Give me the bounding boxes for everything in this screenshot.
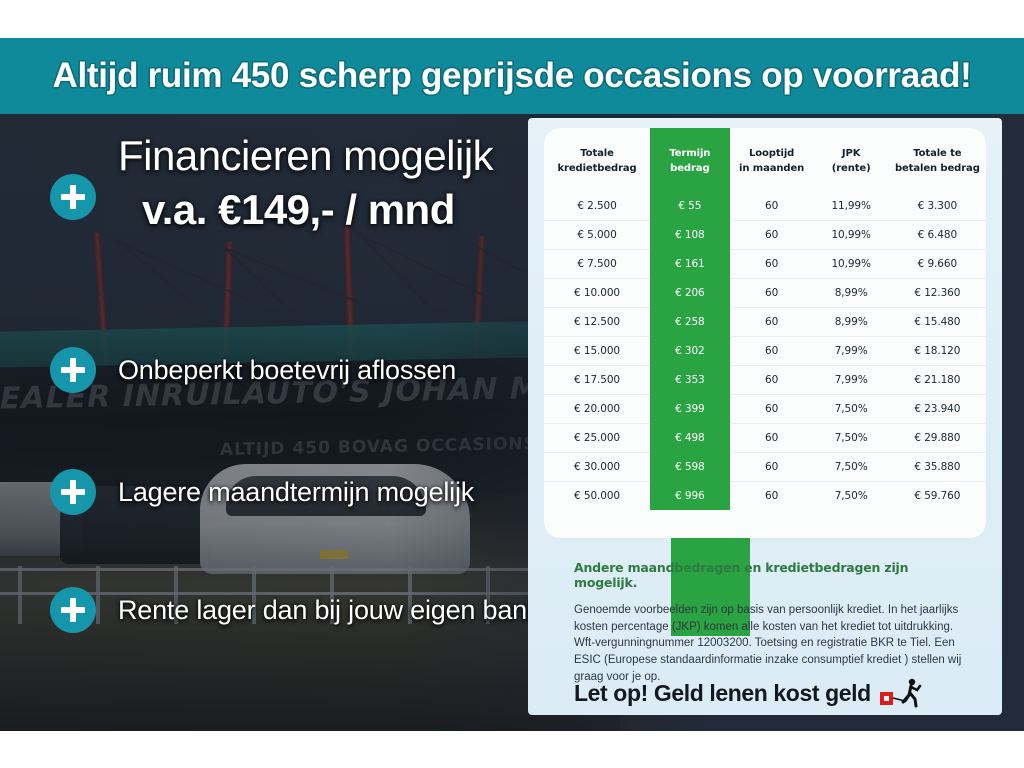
hero-feature: Financieren mogelijk v.a. €149,- / mnd xyxy=(50,132,493,234)
table-cell: 7,50% xyxy=(814,482,889,511)
table-cell: € 498 xyxy=(650,424,730,453)
hero-headline-line-2: v.a. €149,- / mnd xyxy=(142,186,493,234)
table-cell: € 12.500 xyxy=(544,308,650,337)
disclaimer-block: Andere maandbedragen en kredietbedragen … xyxy=(574,560,970,685)
table-cell: € 161 xyxy=(650,250,730,279)
table-cell: 11,99% xyxy=(814,192,889,221)
table-cell: € 15.000 xyxy=(544,337,650,366)
table-row: € 25.000€ 498607,50%€ 29.880 xyxy=(544,424,986,453)
table-cell: € 353 xyxy=(650,366,730,395)
table-cell: € 35.880 xyxy=(889,453,986,482)
table-row: € 2.500€ 556011,99%€ 3.300 xyxy=(544,192,986,221)
disclaimer-body: Genoemde voorbeelden zijn op basis van p… xyxy=(574,602,970,685)
table-cell: 60 xyxy=(730,424,814,453)
table-cell: 60 xyxy=(730,337,814,366)
table-cell: € 20.000 xyxy=(544,395,650,424)
table-cell: € 15.480 xyxy=(889,308,986,337)
table-cell: 60 xyxy=(730,308,814,337)
table-row: € 5.000€ 1086010,99%€ 6.480 xyxy=(544,221,986,250)
column-header-total-credit: Totale kredietbedrag xyxy=(544,128,650,192)
table-cell: € 29.880 xyxy=(889,424,986,453)
feature-label: Onbeperkt boetevrij aflossen xyxy=(118,355,456,386)
table-cell: € 996 xyxy=(650,482,730,511)
headline-text: Altijd ruim 450 scherp geprijsde occasio… xyxy=(52,56,971,96)
table-cell: € 302 xyxy=(650,337,730,366)
table-header-row: Totale kredietbedrag Termijn bedrag Loop… xyxy=(544,128,986,192)
table-cell: € 598 xyxy=(650,453,730,482)
plus-icon xyxy=(50,347,96,393)
table-cell: 60 xyxy=(730,192,814,221)
feature-list: Financieren mogelijk v.a. €149,- / mnd O… xyxy=(0,114,528,731)
feature-item-3: Rente lager dan bij jouw eigen bank xyxy=(50,587,540,633)
plus-icon xyxy=(50,469,96,515)
table-cell: € 55 xyxy=(650,192,730,221)
column-header-total-payable: Totale te betalen bedrag xyxy=(889,128,986,192)
plus-icon xyxy=(50,587,96,633)
loan-warning: Let op! Geld lenen kost geld xyxy=(574,678,925,708)
table-cell: 60 xyxy=(730,453,814,482)
running-man-pulling-block-icon xyxy=(879,678,925,708)
table-row: € 7.500€ 1616010,99%€ 9.660 xyxy=(544,250,986,279)
table-cell: € 12.360 xyxy=(889,279,986,308)
table-cell: 7,99% xyxy=(814,366,889,395)
table-cell: 10,99% xyxy=(814,250,889,279)
hero-headline-line-1: Financieren mogelijk xyxy=(118,132,493,180)
table-cell: € 108 xyxy=(650,221,730,250)
table-cell: 60 xyxy=(730,366,814,395)
table-cell: € 23.940 xyxy=(889,395,986,424)
table-cell: € 10.000 xyxy=(544,279,650,308)
table-cell: 60 xyxy=(730,395,814,424)
table-cell: € 50.000 xyxy=(544,482,650,511)
table-cell: 10,99% xyxy=(814,221,889,250)
table-row: € 10.000€ 206608,99%€ 12.360 xyxy=(544,279,986,308)
table-cell: 8,99% xyxy=(814,279,889,308)
table-row: € 50.000€ 996607,50%€ 59.760 xyxy=(544,482,986,511)
column-header-monthly-amount: Termijn bedrag xyxy=(650,128,730,192)
table-cell: € 7.500 xyxy=(544,250,650,279)
table-row: € 15.000€ 302607,99%€ 18.120 xyxy=(544,337,986,366)
table-cell: € 6.480 xyxy=(889,221,986,250)
column-header-duration: Looptijd in maanden xyxy=(730,128,814,192)
table-cell: € 9.660 xyxy=(889,250,986,279)
feature-item-1: Onbeperkt boetevrij aflossen xyxy=(50,347,456,393)
rate-table-card: Totale kredietbedrag Termijn bedrag Loop… xyxy=(544,128,986,538)
table-cell: 7,99% xyxy=(814,337,889,366)
table-row: € 30.000€ 598607,50%€ 35.880 xyxy=(544,453,986,482)
table-cell: € 206 xyxy=(650,279,730,308)
plus-icon xyxy=(50,174,96,220)
disclaimer-title: Andere maandbedragen en kredietbedragen … xyxy=(574,560,970,590)
advertisement-slide: Altijd ruim 450 scherp geprijsde occasio… xyxy=(0,0,1024,768)
table-cell: € 21.180 xyxy=(889,366,986,395)
table-cell: € 18.120 xyxy=(889,337,986,366)
table-row: € 12.500€ 258608,99%€ 15.480 xyxy=(544,308,986,337)
feature-label: Rente lager dan bij jouw eigen bank xyxy=(118,595,540,626)
table-cell: 60 xyxy=(730,482,814,511)
table-row: € 17.500€ 353607,99%€ 21.180 xyxy=(544,366,986,395)
table-cell: 7,50% xyxy=(814,424,889,453)
table-cell: 60 xyxy=(730,250,814,279)
headline-banner: Altijd ruim 450 scherp geprijsde occasio… xyxy=(0,38,1024,114)
table-cell: € 5.000 xyxy=(544,221,650,250)
table-cell: € 2.500 xyxy=(544,192,650,221)
table-cell: € 258 xyxy=(650,308,730,337)
table-cell: 7,50% xyxy=(814,395,889,424)
table-cell: 7,50% xyxy=(814,453,889,482)
feature-item-2: Lagere maandtermijn mogelijk xyxy=(50,469,474,515)
rate-table: Totale kredietbedrag Termijn bedrag Loop… xyxy=(544,128,986,510)
table-cell: € 399 xyxy=(650,395,730,424)
column-header-interest: JPK (rente) xyxy=(814,128,889,192)
feature-label: Lagere maandtermijn mogelijk xyxy=(118,477,474,508)
table-cell: 60 xyxy=(730,279,814,308)
table-row: € 20.000€ 399607,50%€ 23.940 xyxy=(544,395,986,424)
table-cell: € 17.500 xyxy=(544,366,650,395)
table-cell: € 25.000 xyxy=(544,424,650,453)
table-cell: 8,99% xyxy=(814,308,889,337)
table-cell: 60 xyxy=(730,221,814,250)
table-cell: € 30.000 xyxy=(544,453,650,482)
table-cell: € 59.760 xyxy=(889,482,986,511)
rate-table-body: € 2.500€ 556011,99%€ 3.300€ 5.000€ 10860… xyxy=(544,192,986,510)
loan-warning-text: Let op! Geld lenen kost geld xyxy=(574,680,871,707)
table-cell: € 3.300 xyxy=(889,192,986,221)
finance-info-panel: Totale kredietbedrag Termijn bedrag Loop… xyxy=(528,118,1002,715)
